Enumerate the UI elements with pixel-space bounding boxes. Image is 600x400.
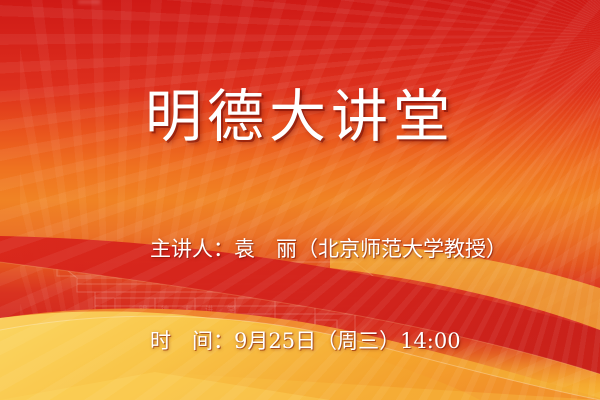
poster-canvas: 明德大讲堂 bbox=[0, 0, 600, 400]
detail-line-time: 时 间：9月25日（周三）14:00 bbox=[150, 326, 507, 357]
event-details-block: 主讲人：袁 丽（北京师范大学教授） 时 间：9月25日（周三）14:00 地 点… bbox=[150, 173, 507, 400]
page-title: 明德大讲堂 bbox=[0, 86, 600, 150]
detail-line-speaker: 主讲人：袁 丽（北京师范大学教授） bbox=[150, 234, 507, 265]
